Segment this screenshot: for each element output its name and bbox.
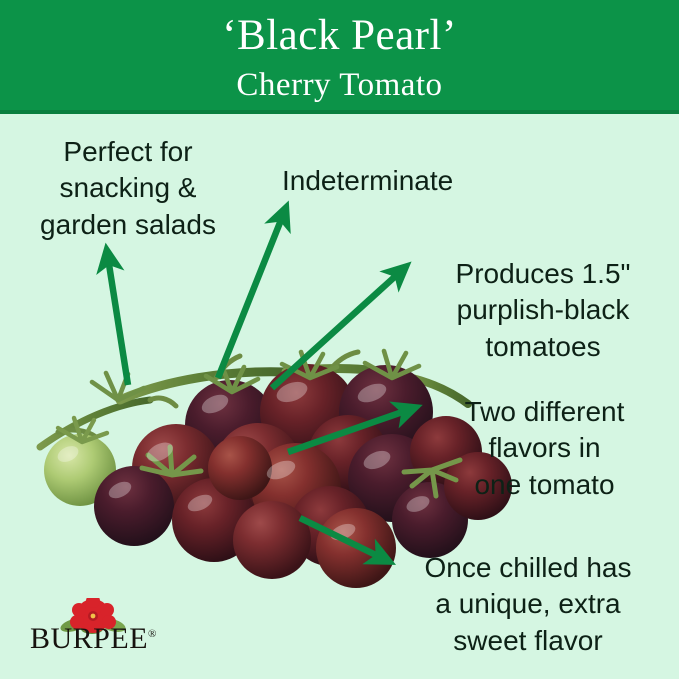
callout-produces: Produces 1.5" purplish-black tomatoes (418, 256, 668, 365)
burpee-logo: BURPEE® (30, 598, 170, 654)
callout-snacking: Perfect for snacking & garden salads (8, 134, 248, 243)
logo-flower-stamen (91, 614, 96, 619)
tomato (233, 501, 311, 579)
callout-flavors: Two different flavors in one tomato (422, 394, 667, 503)
logo-wordmark: BURPEE® (30, 624, 157, 654)
arrow-snacking (108, 258, 128, 385)
callout-chilled: Once chilled has a unique, extra sweet f… (388, 550, 668, 659)
tomato (208, 436, 272, 500)
callout-indeterminate: Indeterminate (282, 163, 507, 199)
trademark-symbol: ® (148, 628, 157, 640)
tomato (94, 466, 174, 546)
logo-wordmark-text: BURPEE (30, 622, 148, 655)
seed-packet-infographic: ‘Black Pearl’ Cherry Tomato (0, 0, 679, 679)
